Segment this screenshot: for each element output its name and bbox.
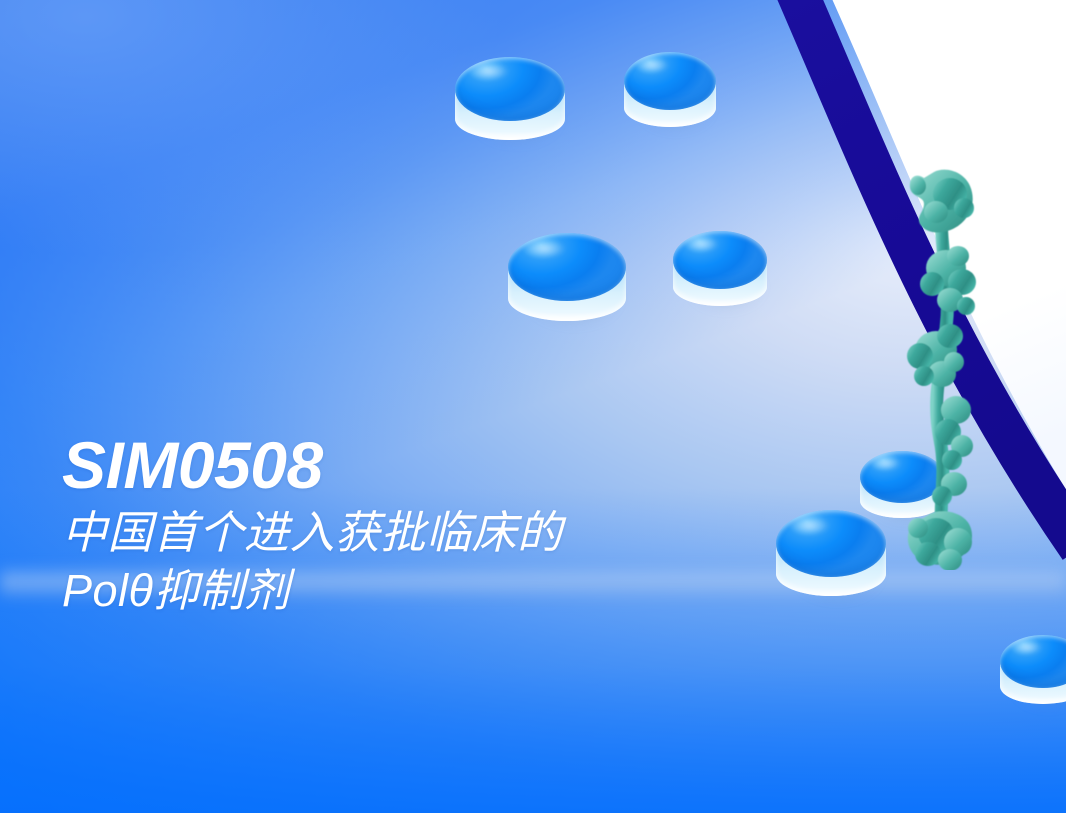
tablet-gloss [466,61,523,87]
tablet-gloss [1009,639,1054,661]
tablet-pill [455,57,565,143]
slide-canvas: SIM0508 中国首个进入获批临床的 Polθ抑制剂 [0,0,1066,813]
subtitle-line-1: 中国首个进入获批临床的 [62,504,822,562]
page-subtitle: 中国首个进入获批临床的 Polθ抑制剂 [62,504,822,619]
subtitle-line-2: Polθ抑制剂 [62,562,822,620]
tablet-gloss [520,238,581,266]
protein-ribbon [880,160,1010,570]
tablet-pill [508,233,626,325]
slide-text-block: SIM0508 中国首个进入获批临床的 Polθ抑制剂 [62,432,822,619]
tablet-pill [673,231,767,309]
protein-domains [907,170,976,570]
tablet-pill [624,52,716,130]
tablet-gloss [633,56,681,79]
page-title: SIM0508 [62,432,822,498]
tablet-pill [1000,635,1066,707]
